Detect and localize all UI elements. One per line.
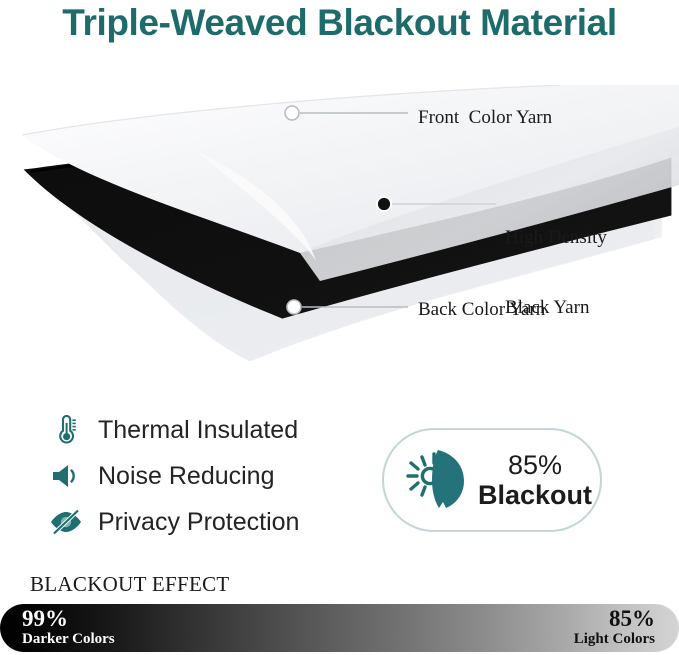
blackout-percent: 85% — [476, 450, 594, 480]
bar-label-darker-colors: 99% Darker Colors — [22, 604, 115, 652]
bar-caption-darker: Darker Colors — [22, 631, 115, 648]
callout-front-color-yarn: Front Color Yarn — [418, 106, 552, 129]
feature-list: Thermal Insulated Noise Reducing Privacy… — [46, 408, 376, 546]
feature-item-noise-reducing: Noise Reducing — [46, 454, 376, 498]
feature-label-thermal-insulated: Thermal Insulated — [98, 416, 298, 445]
blackout-effect-heading: BLACKOUT EFFECT — [30, 572, 230, 597]
page-title: Triple-Weaved Blackout Material — [0, 2, 679, 44]
sun-behind-curtain-icon — [400, 442, 476, 518]
blackout-badge: 85% Blackout — [382, 428, 602, 532]
bar-percent-darker: 99% — [22, 607, 68, 630]
bar-percent-light: 85% — [609, 607, 655, 630]
speaker-icon — [46, 456, 86, 496]
feature-label-privacy-protection: Privacy Protection — [98, 508, 299, 537]
feature-item-thermal-insulated: Thermal Insulated — [46, 408, 376, 452]
blackout-badge-text: 85% Blackout — [476, 450, 600, 510]
bar-label-light-colors: 85% Light Colors — [574, 604, 655, 652]
callout-black-line1: High Density — [505, 226, 607, 249]
thermometer-icon — [46, 410, 86, 450]
bar-caption-light: Light Colors — [574, 631, 655, 648]
blackout-word: Blackout — [476, 480, 594, 510]
eye-slash-icon — [46, 502, 86, 542]
blackout-effect-gradient-bar: 99% Darker Colors 85% Light Colors — [0, 604, 679, 652]
feature-label-noise-reducing: Noise Reducing — [98, 462, 275, 491]
feature-item-privacy-protection: Privacy Protection — [46, 500, 376, 544]
callout-back-color-yarn: Back Color Yarn — [418, 298, 545, 321]
